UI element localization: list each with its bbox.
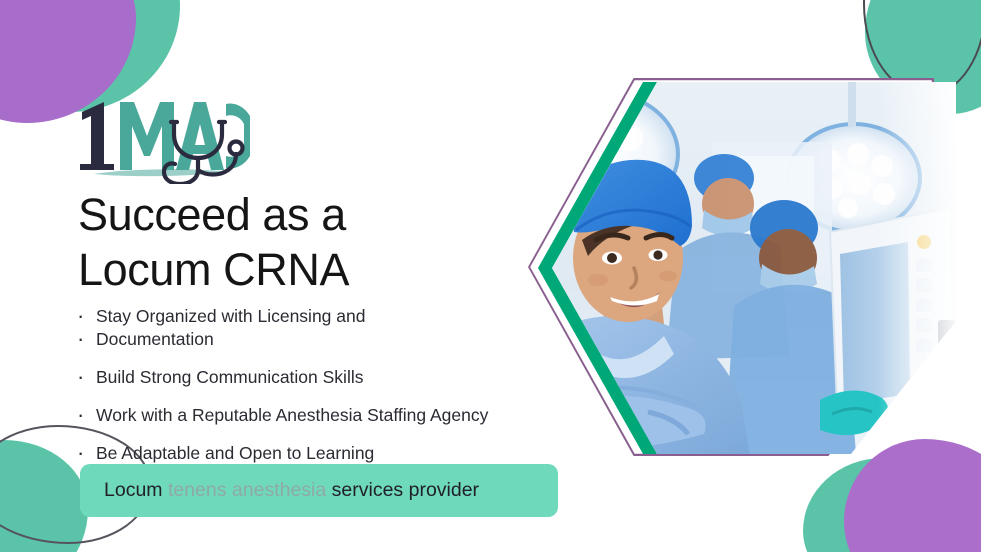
logo-letter-m (120, 102, 174, 170)
logo-letter-one (80, 102, 114, 170)
tagline-part-1: Locum (104, 479, 168, 501)
page-title: Succeed as a Locum CRNA (78, 188, 498, 298)
list-item: Stay Organized with Licensing and (74, 305, 594, 328)
logo-1mac (74, 92, 254, 184)
list-item: Be Adaptable and Open to Learning (74, 442, 594, 465)
logo-letter-c (226, 104, 250, 169)
slide-canvas: Succeed as a Locum CRNA Stay Organized w… (0, 0, 981, 552)
tagline-part-3: services provider (326, 479, 479, 501)
logo-svg (74, 92, 254, 184)
tagline-part-2: tenens anesthesia (168, 479, 326, 501)
tagline-text: Locum tenens anesthesia services provide… (104, 479, 479, 502)
list-item: Documentation (74, 328, 594, 351)
list-item: Work with a Reputable Anesthesia Staffin… (74, 404, 594, 427)
headline-line-1: Succeed as a (78, 188, 498, 243)
list-item: Build Strong Communication Skills (74, 366, 594, 389)
tagline-banner: Locum tenens anesthesia services provide… (80, 464, 558, 517)
bullet-list: Stay Organized with Licensing and Docume… (74, 305, 594, 480)
hero-photo-frame (528, 78, 958, 458)
gloved-hand (820, 390, 888, 435)
headline-line-2: Locum CRNA (78, 243, 498, 298)
